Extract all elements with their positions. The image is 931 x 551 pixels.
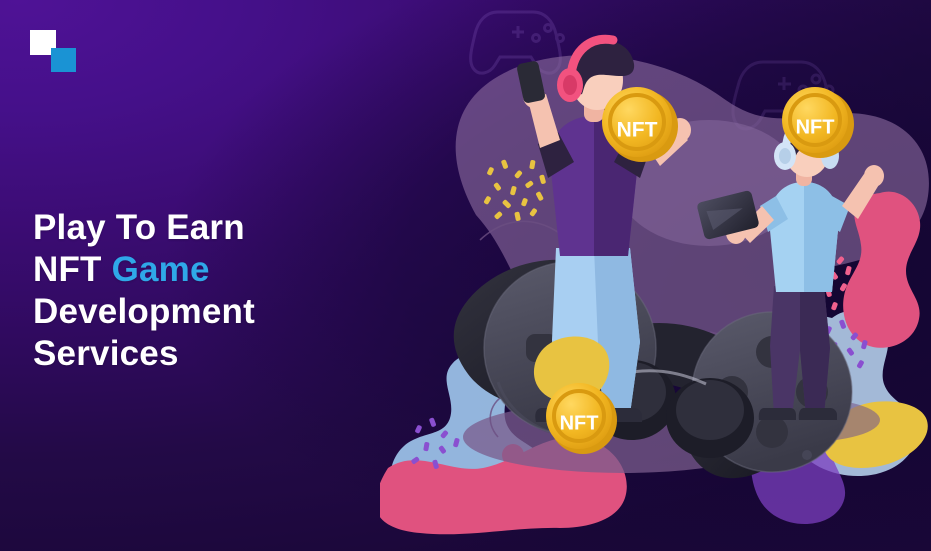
hand-right: [864, 165, 884, 187]
coin-label: NFT: [796, 116, 835, 138]
page-title: Play To Earn NFT Game Development Servic…: [33, 207, 255, 375]
nft-gaming-illustration: NFT NFT NFT: [380, 0, 931, 551]
coin-label: NFT: [560, 412, 599, 434]
headline-line-2-plain: NFT: [33, 250, 112, 289]
trousers-shade: [800, 286, 830, 416]
shoe-left: [759, 408, 796, 420]
logo-square-blue: [51, 48, 76, 72]
headline-line-3: Development: [33, 292, 255, 331]
headline-line-1: Play To Earn: [33, 208, 245, 247]
headline-line-2-accent: Game: [112, 250, 210, 289]
logo[interactable]: [30, 30, 76, 72]
coin-label: NFT: [617, 119, 658, 142]
headline-line-4: Services: [33, 334, 179, 373]
analog-stick-right: [666, 378, 754, 458]
shoe-right: [799, 408, 837, 420]
hero-banner: Play To Earn NFT Game Development Servic…: [0, 0, 931, 551]
